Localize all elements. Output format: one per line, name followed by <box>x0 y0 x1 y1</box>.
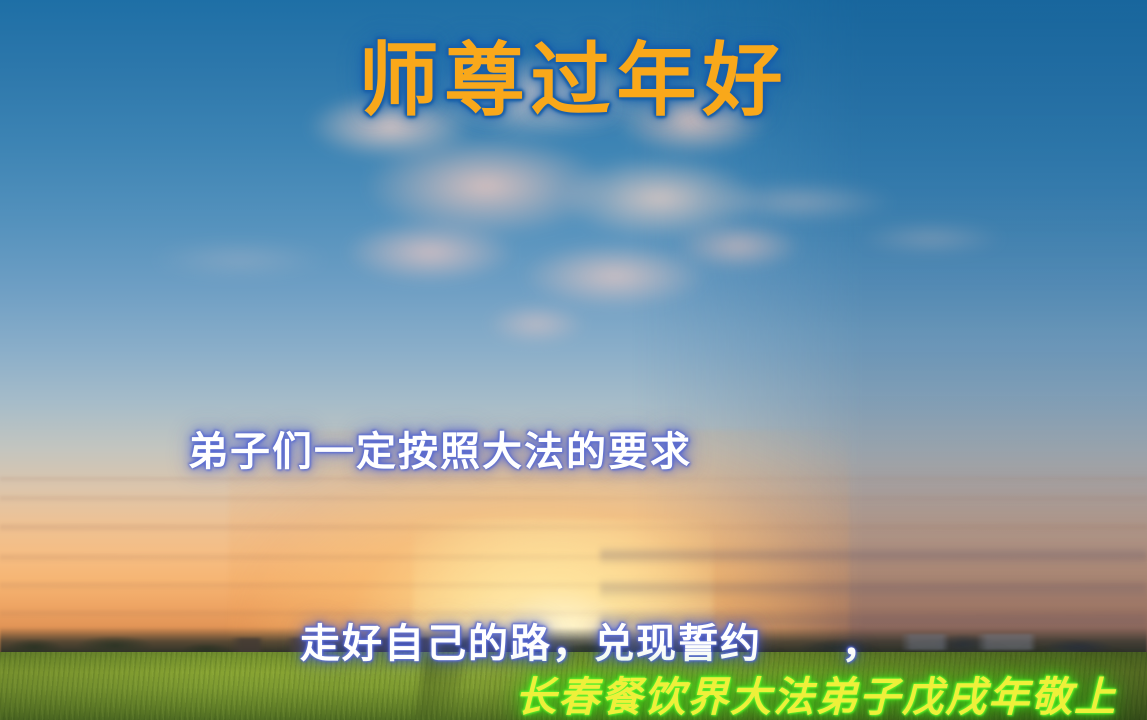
greeting-body: 弟子们一定按照大法的要求 走好自己的路，兑现誓约 ， 早日随师父回家。 <box>0 292 1147 720</box>
greeting-title: 师尊过年好 <box>0 16 1147 132</box>
cloud-wisp-right <box>700 150 1030 280</box>
greeting-body-line-1: 弟子们一定按照大法的要求 <box>0 420 1147 484</box>
greeting-signature: 长春餐饮界大法弟子戊戌年敬上 <box>0 663 1147 720</box>
greeting-card: 师尊过年好 弟子们一定按照大法的要求 走好自己的路，兑现誓约 ， 早日随师父回家… <box>0 0 1147 720</box>
